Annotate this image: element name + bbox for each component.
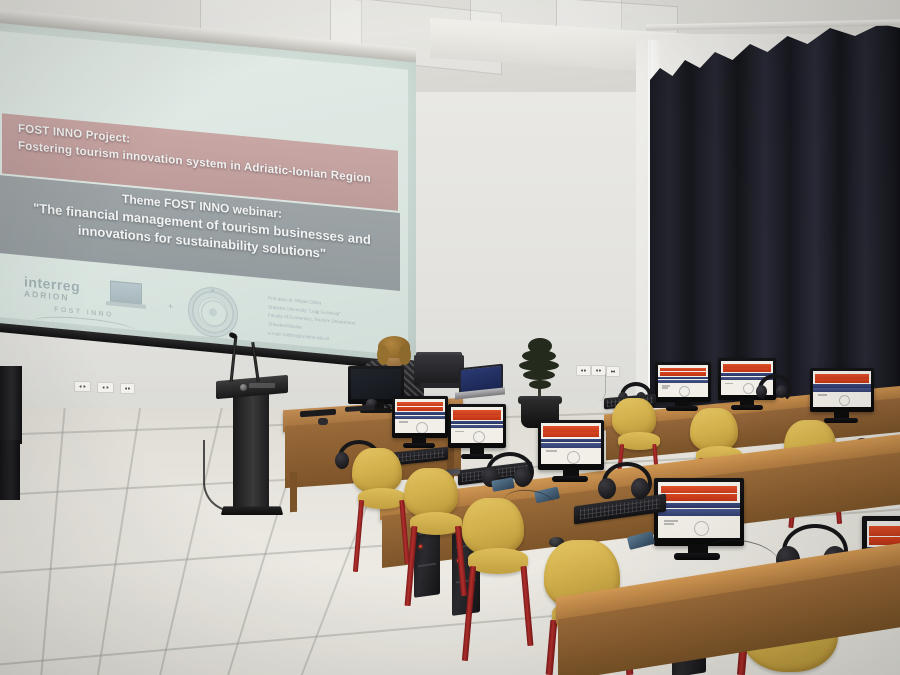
lcd-monitor[interactable] xyxy=(654,478,744,546)
headphone-earcup xyxy=(631,478,649,499)
slide-red-band xyxy=(661,486,736,493)
slide-text-line xyxy=(455,431,464,433)
slide-blue-band-2 xyxy=(813,388,871,392)
desktop-printer[interactable] xyxy=(414,355,464,386)
left-cabinet-lower xyxy=(0,440,20,500)
student-chair[interactable] xyxy=(352,448,402,494)
slide-text-line xyxy=(546,450,557,452)
chair-seat xyxy=(410,512,462,535)
chair-seat xyxy=(468,548,528,574)
speaker-lectern xyxy=(233,392,269,508)
slide-red-band-2 xyxy=(397,407,443,411)
seal-center xyxy=(209,308,217,317)
slide-red-band-2 xyxy=(660,372,706,376)
headphone-earcup xyxy=(776,385,787,398)
chair-backrest xyxy=(404,468,458,518)
wall-power-outlet[interactable] xyxy=(97,382,114,393)
desk-item-puck[interactable] xyxy=(318,418,328,425)
monitor-screen xyxy=(451,407,503,443)
slide-text-line xyxy=(725,383,733,385)
headphone-earcup xyxy=(756,385,767,398)
wall-power-outlet[interactable] xyxy=(606,366,620,377)
slide-blue-band xyxy=(658,377,708,380)
wall-power-outlet[interactable] xyxy=(74,381,91,392)
monitor-screen xyxy=(658,482,740,538)
slide-blue-band-2 xyxy=(658,380,708,383)
slide-blue-band xyxy=(451,421,503,424)
printer-paper-tray[interactable] xyxy=(420,383,462,388)
slide-red-band xyxy=(453,410,501,415)
instructor-monitor-screen xyxy=(351,369,401,399)
slide-seal-icon xyxy=(839,395,850,406)
slide-text-line xyxy=(399,421,408,423)
slide-seal-icon xyxy=(679,386,690,397)
presenter-hair-right xyxy=(399,345,411,365)
slide-red-band xyxy=(815,374,868,379)
headphone-earcup xyxy=(514,467,531,487)
over-ear-headphones[interactable] xyxy=(602,462,644,496)
slide-red-band xyxy=(543,426,598,431)
slide-blue-band-2 xyxy=(658,509,740,515)
slide-blue-band-2 xyxy=(395,416,445,419)
headphone-earcup xyxy=(598,478,616,499)
lectern-base xyxy=(221,506,284,515)
lcd-monitor[interactable] xyxy=(392,396,448,438)
classroom-photo: FOST INNO Project: Fostering tourism inn… xyxy=(0,0,900,675)
slide-red-band-2 xyxy=(723,368,771,372)
slide-red-band xyxy=(869,526,900,535)
pc-power-led-icon xyxy=(419,545,422,548)
plant-foliage xyxy=(523,370,555,380)
lcd-monitor[interactable] xyxy=(538,420,604,470)
monitor-base xyxy=(552,476,588,482)
slide-seal-icon xyxy=(743,383,754,394)
lectern-label xyxy=(249,383,275,388)
presenter-credits: Prof.asoc.dr. Mirjam Dibra Shkodra Unive… xyxy=(268,294,388,349)
instructor-mouse[interactable] xyxy=(366,399,377,406)
slide-text-line xyxy=(818,394,827,396)
slide-seal-icon xyxy=(567,451,580,464)
plus-icon: + xyxy=(168,301,173,311)
chair-backrest xyxy=(352,448,402,494)
projection-screen: FOST INNO Project: Fostering tourism inn… xyxy=(0,8,416,378)
headphone-earcup xyxy=(335,452,349,469)
student-chair[interactable] xyxy=(404,468,458,518)
desk-leg xyxy=(290,472,297,512)
monitor-screen xyxy=(813,371,871,407)
slide-seal-icon xyxy=(416,422,428,433)
lcd-monitor[interactable] xyxy=(810,368,874,412)
slide-red-band-2 xyxy=(453,415,501,419)
wall-power-outlet[interactable] xyxy=(120,383,135,394)
slide-blue-band xyxy=(395,412,445,415)
slide-seal-icon xyxy=(694,521,709,536)
slide-red-band-2 xyxy=(543,432,598,437)
monitor-screen xyxy=(395,399,445,433)
outlet-cable xyxy=(583,374,606,402)
presenter-hair-left xyxy=(377,345,389,365)
pc-drive-slot xyxy=(418,563,436,568)
plant-foliage xyxy=(529,380,551,389)
over-ear-headphones[interactable] xyxy=(758,374,784,396)
slide-red-band-2 xyxy=(815,379,868,383)
seal-star-icon: ★ xyxy=(210,287,215,295)
screen-surface: FOST INNO Project: Fostering tourism inn… xyxy=(0,22,416,362)
slide-red-band xyxy=(660,368,706,372)
slide-text-line xyxy=(664,520,679,522)
lectern-knob[interactable] xyxy=(240,384,247,391)
monitor-screen xyxy=(658,365,708,397)
slide-blue-band xyxy=(658,503,740,509)
slide-blue-band xyxy=(813,384,871,387)
slide-blue-band xyxy=(541,439,601,443)
slide-blue-band-2 xyxy=(451,425,503,429)
slide-text-line xyxy=(664,523,675,525)
slide-text-line xyxy=(662,387,668,389)
left-cabinet xyxy=(0,366,22,444)
eu-flag-icon xyxy=(110,281,142,305)
slide-red-band xyxy=(397,402,443,406)
monitor-screen xyxy=(541,423,601,464)
slide-red-band-2 xyxy=(661,494,736,501)
monitor-base xyxy=(403,443,435,448)
lcd-monitor[interactable] xyxy=(655,362,711,402)
slide-seal-icon xyxy=(473,431,485,443)
slide-blue-band-2 xyxy=(541,443,601,448)
projected-slide: FOST INNO Project: Fostering tourism inn… xyxy=(0,31,408,356)
slide-red-band xyxy=(723,364,771,368)
lcd-monitor[interactable] xyxy=(448,404,506,448)
